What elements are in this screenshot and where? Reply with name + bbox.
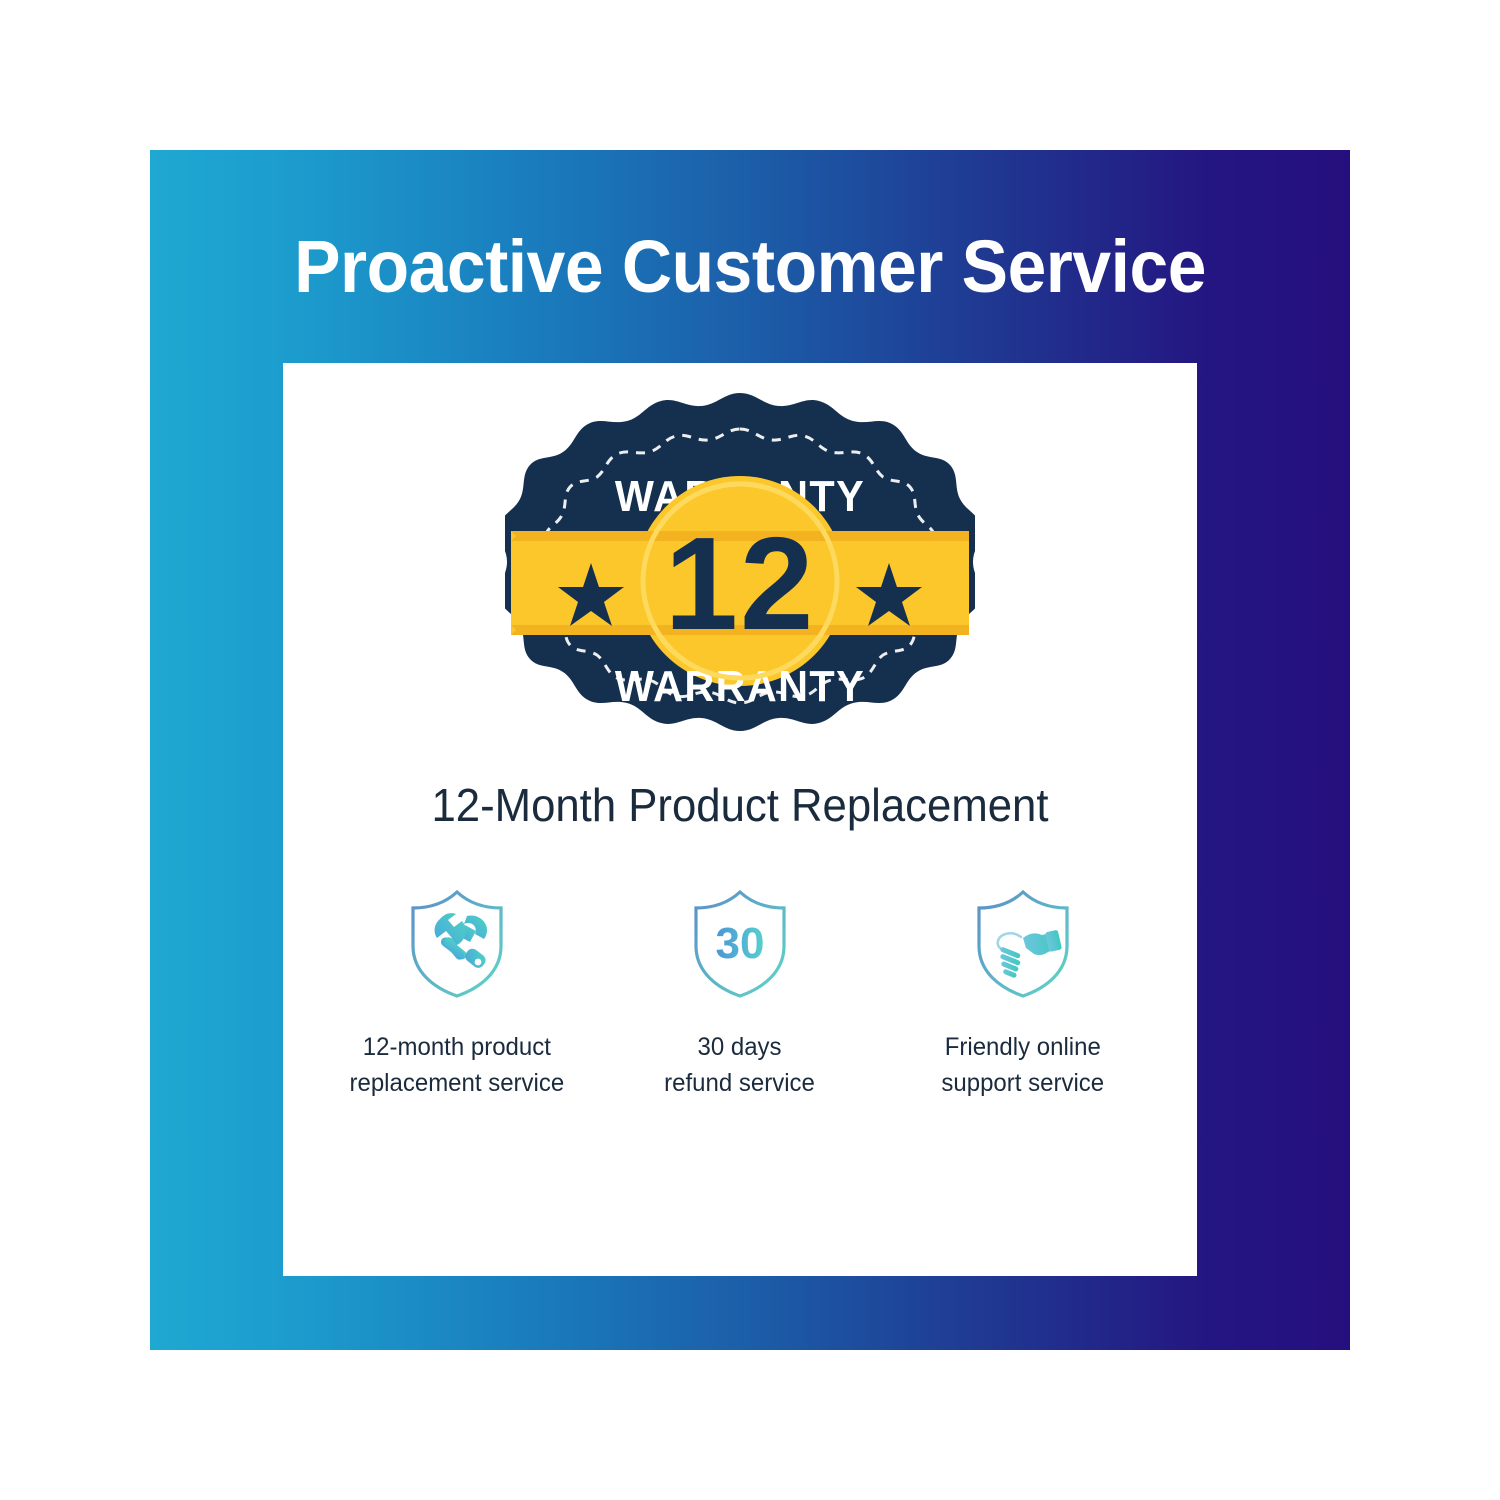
feature-item-refund: 30 30 days refund service (606, 888, 874, 1101)
seal-number: 12 (665, 510, 816, 657)
page-title: Proactive Customer Service (186, 224, 1314, 309)
shield-30-days-icon: 30 (688, 888, 792, 1000)
feature-item-replacement: 12-month product replacement service (323, 888, 591, 1101)
shield-tools-icon (405, 888, 509, 1000)
feature-caption-line1: 30 days (665, 1030, 816, 1066)
poster-canvas: Proactive Customer Service (0, 0, 1500, 1500)
warranty-seal: WARRANTY WARRANTY (505, 385, 975, 777)
feature-caption-line1: 12-month product (350, 1030, 565, 1066)
feature-caption: 30 days refund service (665, 1030, 816, 1101)
headline: 12-Month Product Replacement (306, 778, 1174, 832)
shield-handshake-icon (971, 888, 1075, 1000)
feature-list: 12-month product replacement service (323, 888, 1157, 1101)
feature-caption: Friendly online support service (942, 1030, 1105, 1101)
gradient-banner-frame: Proactive Customer Service (150, 150, 1350, 1350)
feature-caption-line2: refund service (665, 1066, 816, 1102)
feature-caption-line2: support service (942, 1066, 1105, 1102)
content-card: WARRANTY WARRANTY (283, 363, 1197, 1276)
seal-bottom-text: WARRANTY (615, 662, 865, 711)
feature-caption-line2: replacement service (350, 1066, 565, 1102)
feature-caption-line1: Friendly online (942, 1030, 1105, 1066)
shield-badge-number: 30 (716, 919, 765, 968)
feature-item-support: Friendly online support service (889, 888, 1157, 1101)
feature-caption: 12-month product replacement service (350, 1030, 565, 1101)
